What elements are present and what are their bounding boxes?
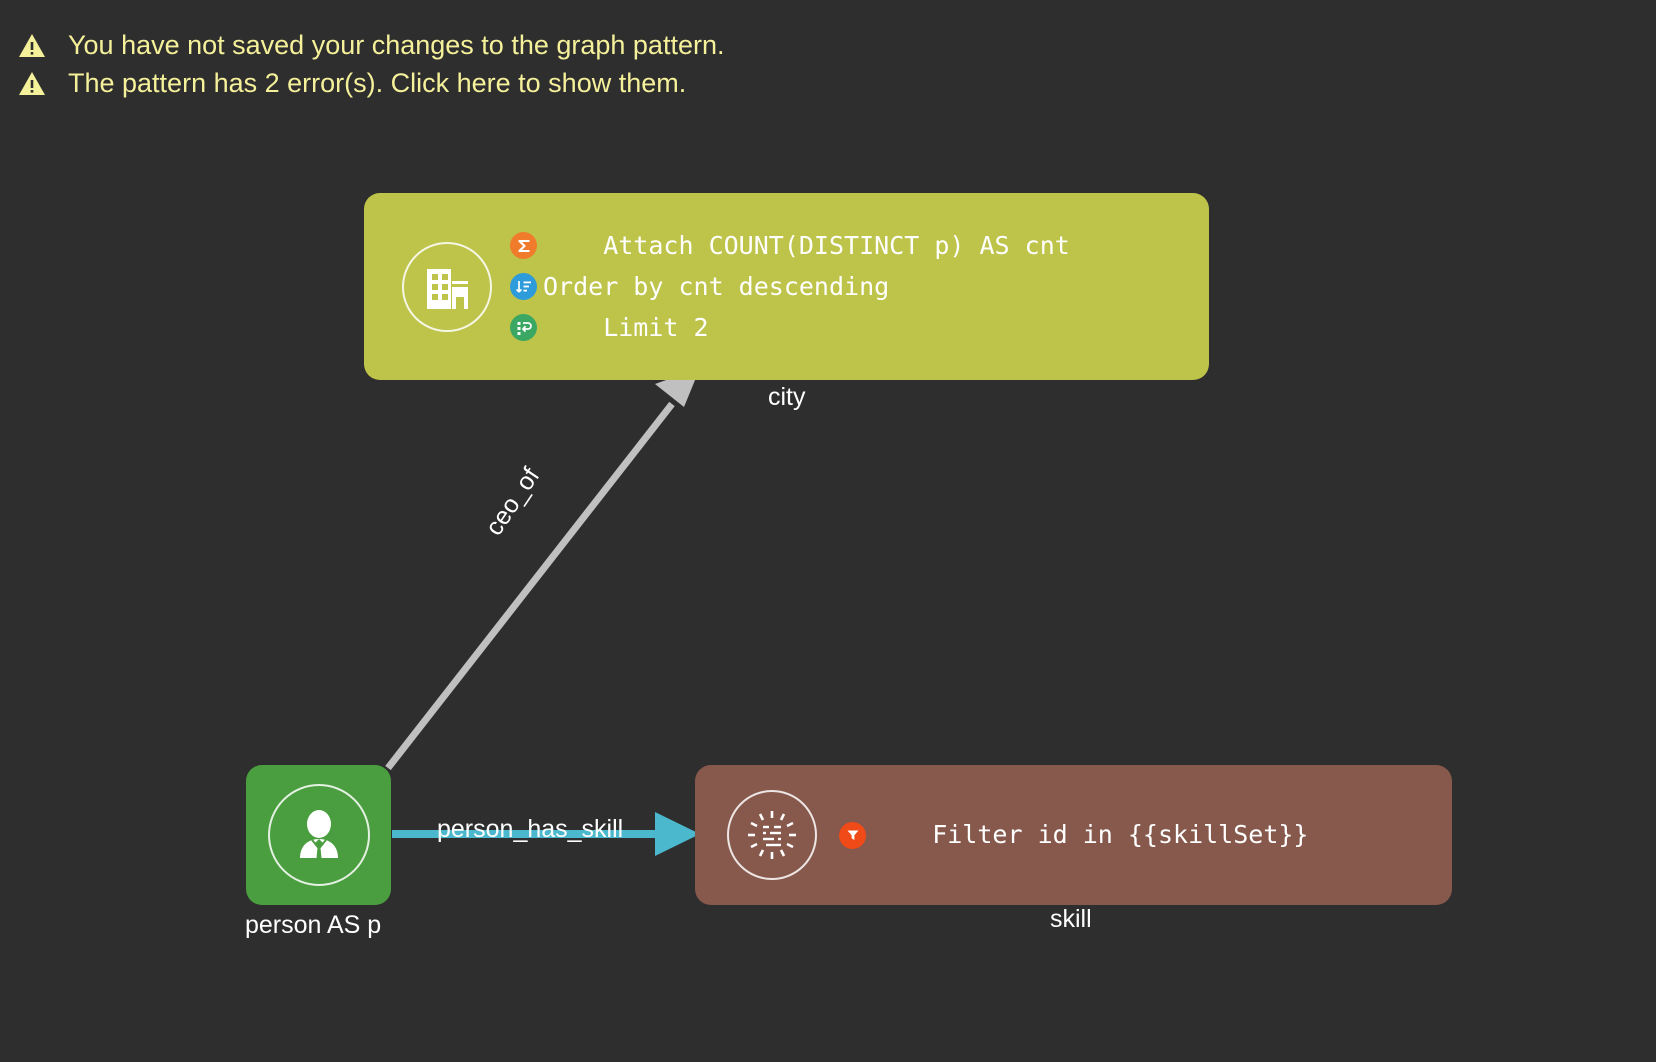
clause-text: Limit 2: [543, 313, 709, 343]
clause-text: Attach COUNT(DISTINCT p) AS cnt: [543, 231, 1070, 261]
skill-burst-icon: [727, 790, 817, 880]
edge-ceo-of[interactable]: [388, 368, 700, 768]
clause-text: Order by cnt descending: [543, 272, 889, 302]
clause-filter[interactable]: Filter id in {{skillSet}}: [839, 817, 1309, 854]
node-person[interactable]: [246, 765, 391, 905]
person-suit-icon: [268, 784, 370, 886]
clause-text: Filter id in {{skillSet}}: [872, 820, 1309, 850]
node-label-person: person AS p: [245, 911, 381, 939]
graph-pattern-editor: You have not saved your changes to the g…: [0, 0, 1656, 1062]
order-by-icon: [510, 273, 537, 300]
node-label-city: city: [768, 383, 806, 411]
clause-attach-count[interactable]: Attach COUNT(DISTINCT p) AS cnt: [510, 227, 1070, 264]
building-city-icon: [402, 242, 492, 332]
limit-icon: [510, 314, 537, 341]
skill-clause-list: Filter id in {{skillSet}}: [839, 817, 1309, 854]
edge-label-person-has-skill[interactable]: person_has_skill: [437, 815, 623, 843]
clause-limit[interactable]: Limit 2: [510, 309, 1070, 346]
node-label-skill: skill: [1050, 905, 1092, 933]
city-clause-list: Attach COUNT(DISTINCT p) AS cnt Order by…: [510, 227, 1070, 346]
clause-order-by[interactable]: Order by cnt descending: [510, 268, 1070, 305]
sigma-aggregate-icon: [510, 232, 537, 259]
node-skill[interactable]: Filter id in {{skillSet}}: [695, 765, 1452, 905]
node-city[interactable]: Attach COUNT(DISTINCT p) AS cnt Order by…: [364, 193, 1209, 380]
edge-label-ceo-of[interactable]: ceo_of: [480, 463, 545, 541]
graph-canvas[interactable]: Attach COUNT(DISTINCT p) AS cnt Order by…: [0, 0, 1656, 1062]
filter-funnel-icon: [839, 822, 866, 849]
